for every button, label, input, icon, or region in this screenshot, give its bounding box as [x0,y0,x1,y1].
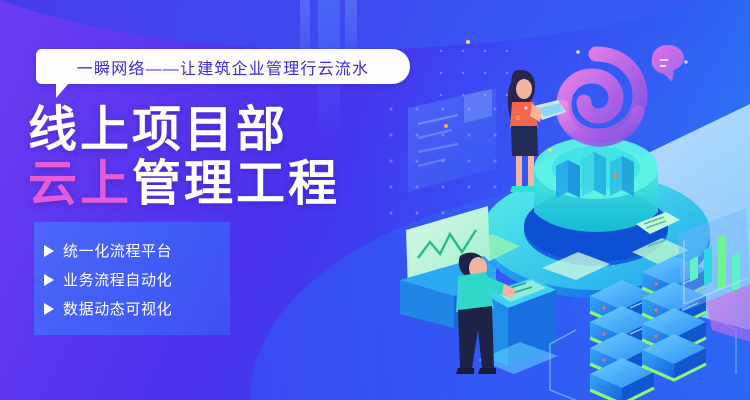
feature-label: 统一化流程平台 [63,240,172,261]
isometric-illustration [400,0,750,400]
triangle-right-icon [44,245,54,257]
feature-label: 数据动态可视化 [63,298,172,319]
feature-label: 业务流程自动化 [63,269,172,290]
triangle-right-icon [44,303,54,315]
headline-line-1: 线上项目部 [28,104,340,156]
list-item: 业务流程自动化 [44,265,254,294]
promo-banner: 一瞬网络——让建筑企业管理行云流水 线上项目部 云上管理工程 统一化流程平台 业… [0,0,750,400]
tagline-ribbon: 一瞬网络——让建筑企业管理行云流水 [36,49,410,84]
feature-list: 统一化流程平台 业务流程自动化 数据动态可视化 [44,236,254,323]
headline-line-2-highlight: 云上 [28,157,132,211]
window-panel [408,88,496,192]
headline-line-2: 云上管理工程 [28,156,340,212]
spiral-e-logo [562,54,640,140]
list-item: 数据动态可视化 [44,294,254,323]
triangle-right-icon [44,274,54,286]
tagline-text: 一瞬网络——让建筑企业管理行云流水 [77,55,369,79]
list-item: 统一化流程平台 [44,236,254,265]
headline-line-2-rest: 管理工程 [132,157,340,211]
speech-bubble-icon [651,45,684,82]
headline-block: 线上项目部 云上管理工程 [28,104,340,212]
ribbon-tail [56,83,80,98]
